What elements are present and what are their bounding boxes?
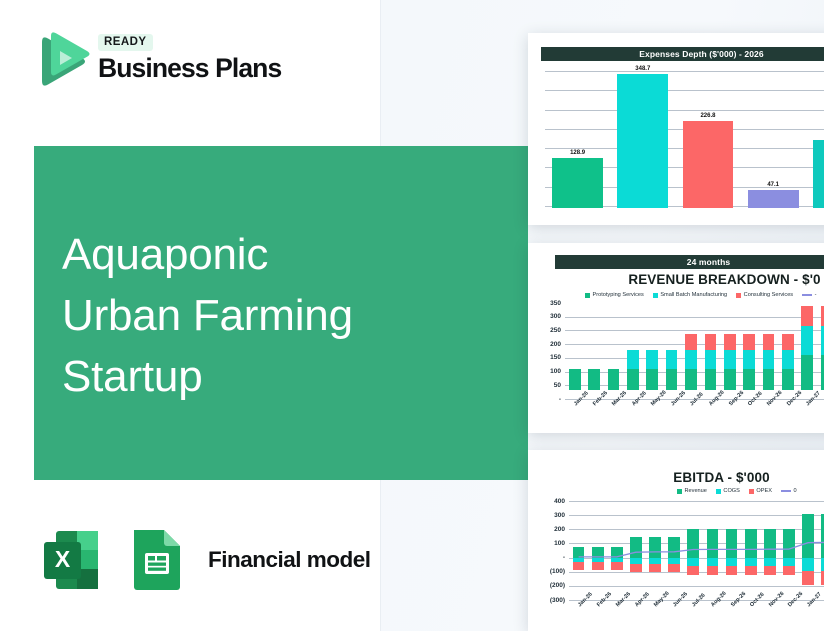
ready-badge: READY bbox=[98, 34, 153, 51]
bar-value-label: 47.1 bbox=[748, 182, 799, 188]
y-axis-tick: 100 bbox=[536, 540, 565, 547]
stack-segment bbox=[705, 334, 717, 350]
stack-segment bbox=[646, 369, 658, 390]
y-axis-tick: 200 bbox=[536, 526, 565, 533]
brand-logo[interactable]: READY Business Plans bbox=[32, 29, 362, 91]
stack-segment bbox=[763, 334, 775, 350]
legend-label: Consulting Services bbox=[744, 292, 793, 298]
y-axis-tick: - bbox=[535, 396, 561, 403]
y-axis-tick: 300 bbox=[535, 313, 561, 320]
bar-value-label: 176.5 bbox=[813, 132, 824, 138]
legend-item: COGS bbox=[716, 488, 740, 494]
legend-color-swatch bbox=[749, 489, 754, 494]
stack-segment bbox=[685, 350, 697, 369]
legend-label: Prototyping Services bbox=[593, 292, 644, 298]
stack-segment bbox=[801, 326, 813, 355]
play-triangle-logo-icon bbox=[32, 29, 94, 91]
stack-segment bbox=[743, 350, 755, 369]
revenue-chart-title: REVENUE BREAKDOWN - $'0 bbox=[535, 272, 824, 287]
stack-segment bbox=[627, 350, 639, 369]
bar-1 bbox=[552, 158, 603, 208]
legend-color-swatch bbox=[736, 293, 741, 298]
y-axis-tick: 300 bbox=[536, 512, 565, 519]
bar-4 bbox=[748, 190, 799, 208]
stack-segment bbox=[666, 369, 678, 390]
ebitda-plot-area: 400300200100-(100)(200)(300)Jan-26Feb-26… bbox=[569, 501, 824, 586]
google-sheets-icon bbox=[126, 521, 188, 599]
y-axis-tick: 100 bbox=[535, 368, 561, 375]
stack-segment bbox=[763, 350, 775, 369]
bar-value-label: 348.7 bbox=[617, 66, 668, 72]
brand-logo-text: READY Business Plans bbox=[98, 32, 281, 83]
stack-segment bbox=[724, 334, 736, 350]
y-axis-tick: (200) bbox=[536, 582, 565, 589]
legend-item: OPEX bbox=[749, 488, 772, 494]
gridline bbox=[545, 90, 824, 91]
stack-segment bbox=[801, 355, 813, 390]
footer-bar: X Financial model bbox=[34, 520, 371, 600]
legend-line-marker bbox=[781, 490, 791, 492]
revenue-months-header: 24 months bbox=[555, 255, 824, 269]
stack-segment bbox=[782, 334, 794, 350]
legend-item: 0 bbox=[781, 488, 797, 494]
financial-model-label: Financial model bbox=[208, 547, 371, 573]
chart-card-expenses-body: Expenses Depth ($'000) - 2026 128.9348.7… bbox=[535, 40, 824, 218]
y-axis-tick: (100) bbox=[536, 568, 565, 575]
stack-segment bbox=[685, 369, 697, 390]
legend-item: - bbox=[802, 292, 816, 298]
gridline bbox=[565, 330, 824, 331]
legend-item: Prototyping Services bbox=[585, 292, 644, 298]
y-axis-tick: 250 bbox=[535, 327, 561, 334]
bar-3 bbox=[683, 121, 734, 208]
gridline bbox=[545, 71, 824, 72]
stack-segment bbox=[666, 350, 678, 369]
bar-value-label: 128.9 bbox=[552, 150, 603, 156]
hero-green-panel: Aquaponic Urban Farming Startup bbox=[34, 146, 528, 480]
stack-segment bbox=[569, 369, 581, 390]
stack-segment bbox=[608, 369, 620, 390]
y-axis-tick: 350 bbox=[535, 300, 561, 307]
legend-label: - bbox=[815, 292, 817, 298]
legend-item: Small Batch Manufacturing bbox=[653, 292, 727, 298]
legend-item: Consulting Services bbox=[736, 292, 793, 298]
legend-label: Revenue bbox=[685, 488, 707, 494]
slide-root: READY Business Plans Aquaponic Urban Far… bbox=[0, 0, 824, 631]
ebitda-legend: RevenueCOGSOPEX0 bbox=[677, 488, 797, 494]
stack-segment bbox=[743, 369, 755, 390]
y-axis-tick: 50 bbox=[535, 382, 561, 389]
legend-color-swatch bbox=[653, 293, 658, 298]
y-axis-tick: (300) bbox=[536, 597, 565, 604]
y-axis-tick: 400 bbox=[536, 498, 565, 505]
chart-card-ebitda[interactable]: EBITDA - $'000 RevenueCOGSOPEX0 40030020… bbox=[528, 450, 824, 631]
chart-card-revenue-body: 24 months REVENUE BREAKDOWN - $'0 Protot… bbox=[535, 250, 824, 426]
bar-value-label: 226.8 bbox=[683, 113, 734, 119]
stack-segment bbox=[724, 350, 736, 369]
legend-color-swatch bbox=[585, 293, 590, 298]
legend-label: OPEX bbox=[756, 488, 772, 494]
expenses-chart-title: Expenses Depth ($'000) - 2026 bbox=[541, 47, 824, 61]
ebitda-chart-title: EBITDA - $'000 bbox=[535, 470, 824, 485]
gridline bbox=[545, 110, 824, 111]
stack-segment bbox=[705, 369, 717, 390]
legend-label: COGS bbox=[723, 488, 739, 494]
brand-name: Business Plans bbox=[98, 53, 281, 83]
legend-label: 0 bbox=[793, 488, 796, 494]
stack-segment bbox=[782, 350, 794, 369]
svg-text:X: X bbox=[55, 546, 71, 572]
chart-card-expenses[interactable]: Expenses Depth ($'000) - 2026 128.9348.7… bbox=[528, 33, 824, 225]
legend-color-swatch bbox=[677, 489, 682, 494]
stack-segment bbox=[685, 334, 697, 350]
stack-segment bbox=[782, 369, 794, 390]
stack-segment bbox=[724, 369, 736, 390]
legend-line-marker bbox=[802, 294, 812, 296]
zero-line-series bbox=[569, 501, 824, 600]
stack-segment bbox=[646, 350, 658, 369]
stack-segment bbox=[763, 369, 775, 390]
stack-segment bbox=[588, 369, 600, 390]
legend-color-swatch bbox=[716, 489, 721, 494]
legend-item: Revenue bbox=[677, 488, 707, 494]
microsoft-excel-icon: X bbox=[34, 521, 112, 599]
chart-card-ebitda-body: EBITDA - $'000 RevenueCOGSOPEX0 40030020… bbox=[535, 457, 824, 624]
y-axis-tick: - bbox=[536, 554, 565, 561]
expenses-plot-area: 128.9348.7226.847.1176.5 bbox=[545, 71, 824, 208]
revenue-legend: Prototyping ServicesSmall Batch Manufact… bbox=[585, 292, 816, 298]
stack-segment bbox=[627, 369, 639, 390]
y-axis-tick: 150 bbox=[535, 354, 561, 361]
gridline bbox=[565, 317, 824, 318]
bar-2 bbox=[617, 74, 668, 208]
y-axis-tick: 200 bbox=[535, 341, 561, 348]
stack-segment bbox=[743, 334, 755, 350]
legend-label: Small Batch Manufacturing bbox=[660, 292, 727, 298]
stack-segment bbox=[801, 306, 813, 326]
revenue-plot-area: 35030025020015010050-Jan-26Feb-26Mar-26A… bbox=[565, 303, 824, 390]
page-title: Aquaponic Urban Farming Startup bbox=[62, 224, 512, 407]
bar-5 bbox=[813, 140, 824, 208]
stack-segment bbox=[705, 350, 717, 369]
chart-card-revenue-breakdown[interactable]: 24 months REVENUE BREAKDOWN - $'0 Protot… bbox=[528, 243, 824, 433]
